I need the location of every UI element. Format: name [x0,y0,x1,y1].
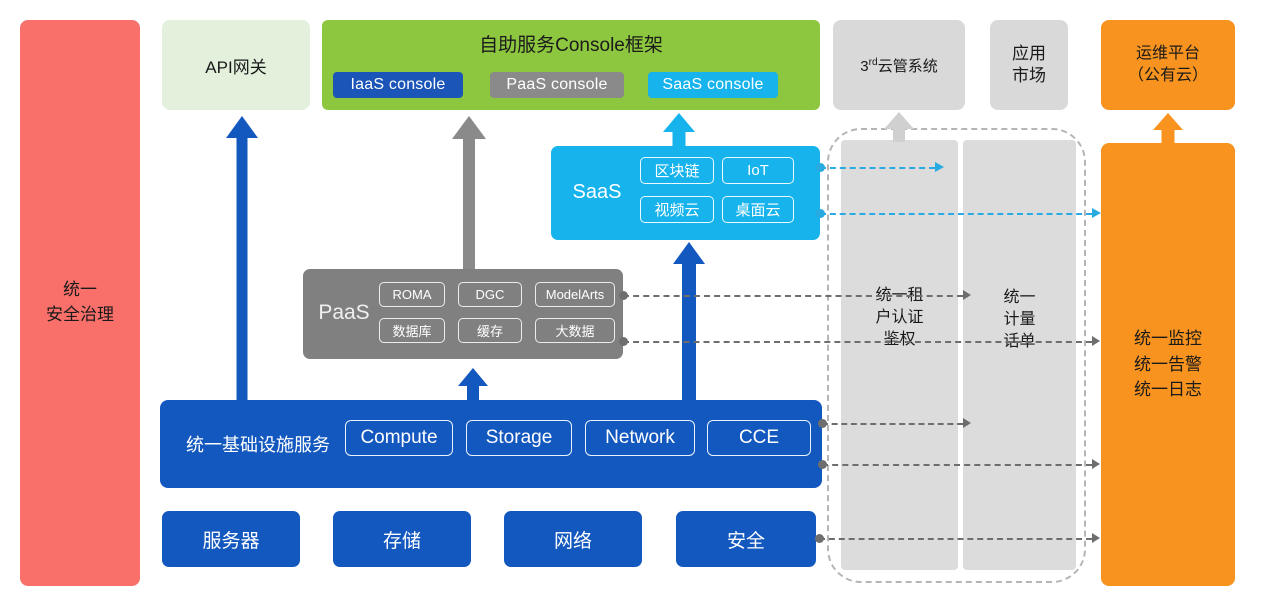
dashed-line-resources-to-ops-origin-dot [815,534,824,543]
arrow-shared-to-third-party [884,112,914,142]
paas-chip-database[interactable]: 数据库 [379,318,445,343]
dashed-line-paas-to-ops [623,341,1092,343]
metering-line-2: 计量 [1003,309,1035,331]
tag-saas-console[interactable]: SaaS console [648,72,778,98]
paas-chip-modelarts[interactable]: ModelArts [535,282,615,307]
dashed-line-saas-to-ops-arrowhead [1092,208,1101,218]
saas-chip-desktop-cloud[interactable]: 桌面云 [722,196,794,223]
dashed-line-paas-to-auth-origin-dot [619,291,628,300]
panel-api-gateway[interactable]: API网关 [162,20,310,110]
auth-line-2: 户认证 [875,307,923,329]
architecture-diagram: 统一 安全治理 API网关 自助服务Console框架 IaaS console… [0,0,1265,605]
ops-main-line-2: 统一告警 [1134,352,1202,378]
paas-chip-roma[interactable]: ROMA [379,282,445,307]
ops-main-line-3: 统一日志 [1134,377,1202,403]
dashed-line-paas-to-ops-origin-dot [619,337,628,346]
ops-main-line-1: 统一监控 [1134,326,1202,352]
saas-layer-label: SaaS [560,172,634,212]
paas-chip-bigdata[interactable]: 大数据 [535,318,615,343]
dashed-line-saas-to-auth-arrowhead [935,162,944,172]
panel-unified-security-governance[interactable]: 统一 安全治理 [20,20,140,586]
dashed-line-saas-to-ops [820,213,1092,215]
metering-column-label: 统一 计量 话单 [963,282,1076,358]
dashed-line-infra-to-auth [822,423,963,425]
ops-top-line-1: 运维平台 [1128,43,1208,65]
saas-chip-iot[interactable]: IoT [722,157,794,184]
third-party-label: 3rd云管系统 [860,55,937,76]
panel-unified-monitoring-alarm-log[interactable]: 统一监控 统一告警 统一日志 [1101,143,1235,586]
dashed-line-resources-to-ops [819,538,1092,540]
paas-chip-cache[interactable]: 缓存 [458,318,522,343]
dashed-line-infra-to-auth-arrowhead [963,418,971,428]
dashed-line-infra-to-ops [822,464,1092,466]
resource-box-network[interactable]: 网络 [504,511,642,567]
infra-chip-cce[interactable]: CCE [707,420,811,456]
security-line-1: 统一 [46,278,114,303]
paas-layer-label: PaaS [312,294,376,332]
arrow-saas-to-console [663,113,695,147]
api-gateway-label: API网关 [205,53,266,78]
dashed-line-saas-to-auth [820,167,935,169]
saas-chip-video-cloud[interactable]: 视频云 [640,196,714,223]
dashed-line-saas-to-auth-origin-dot [816,163,825,172]
infra-chip-compute[interactable]: Compute [345,420,453,456]
dashed-line-infra-to-auth-origin-dot [818,419,827,428]
tag-paas-console[interactable]: PaaS console [490,72,624,98]
app-market-line-1: 应用 [1012,43,1046,65]
arrow-paas-to-console [452,116,486,269]
dashed-line-paas-to-auth-arrowhead [963,290,971,300]
infra-chip-storage[interactable]: Storage [466,420,572,456]
panel-third-party-cloud-management[interactable]: 3rd云管系统 [833,20,965,110]
resource-box-server[interactable]: 服务器 [162,511,300,567]
resource-box-storage[interactable]: 存储 [333,511,471,567]
infra-chip-network[interactable]: Network [585,420,695,456]
ops-top-line-2: （公有云） [1128,65,1208,87]
panel-application-market[interactable]: 应用 市场 [990,20,1068,110]
dashed-line-saas-to-ops-origin-dot [816,209,825,218]
security-line-2: 安全治理 [46,303,114,328]
paas-chip-dgc[interactable]: DGC [458,282,522,307]
tag-iaas-console[interactable]: IaaS console [333,72,463,98]
dashed-line-paas-to-auth [623,295,963,297]
arrow-infra-to-api-gateway [226,116,258,400]
saas-chip-blockchain[interactable]: 区块链 [640,157,714,184]
auth-column-label: 统一租 户认证 鉴权 [841,280,958,356]
resource-box-security[interactable]: 安全 [676,511,816,567]
dashed-line-infra-to-ops-arrowhead [1092,459,1100,469]
arrow-ops-main-to-ops-top [1152,113,1184,144]
metering-line-1: 统一 [1003,287,1035,309]
app-market-line-2: 市场 [1012,65,1046,87]
arrow-infra-to-saas [673,242,705,400]
panel-ops-platform-public-cloud[interactable]: 运维平台 （公有云） [1101,20,1235,110]
dashed-line-paas-to-ops-arrowhead [1092,336,1100,346]
console-framework-title: 自助服务Console框架 [322,28,820,58]
dashed-line-infra-to-ops-origin-dot [818,460,827,469]
infrastructure-label: 统一基础设施服务 [172,425,344,463]
dashed-line-resources-to-ops-arrowhead [1092,533,1100,543]
arrow-infra-to-paas [458,368,488,401]
